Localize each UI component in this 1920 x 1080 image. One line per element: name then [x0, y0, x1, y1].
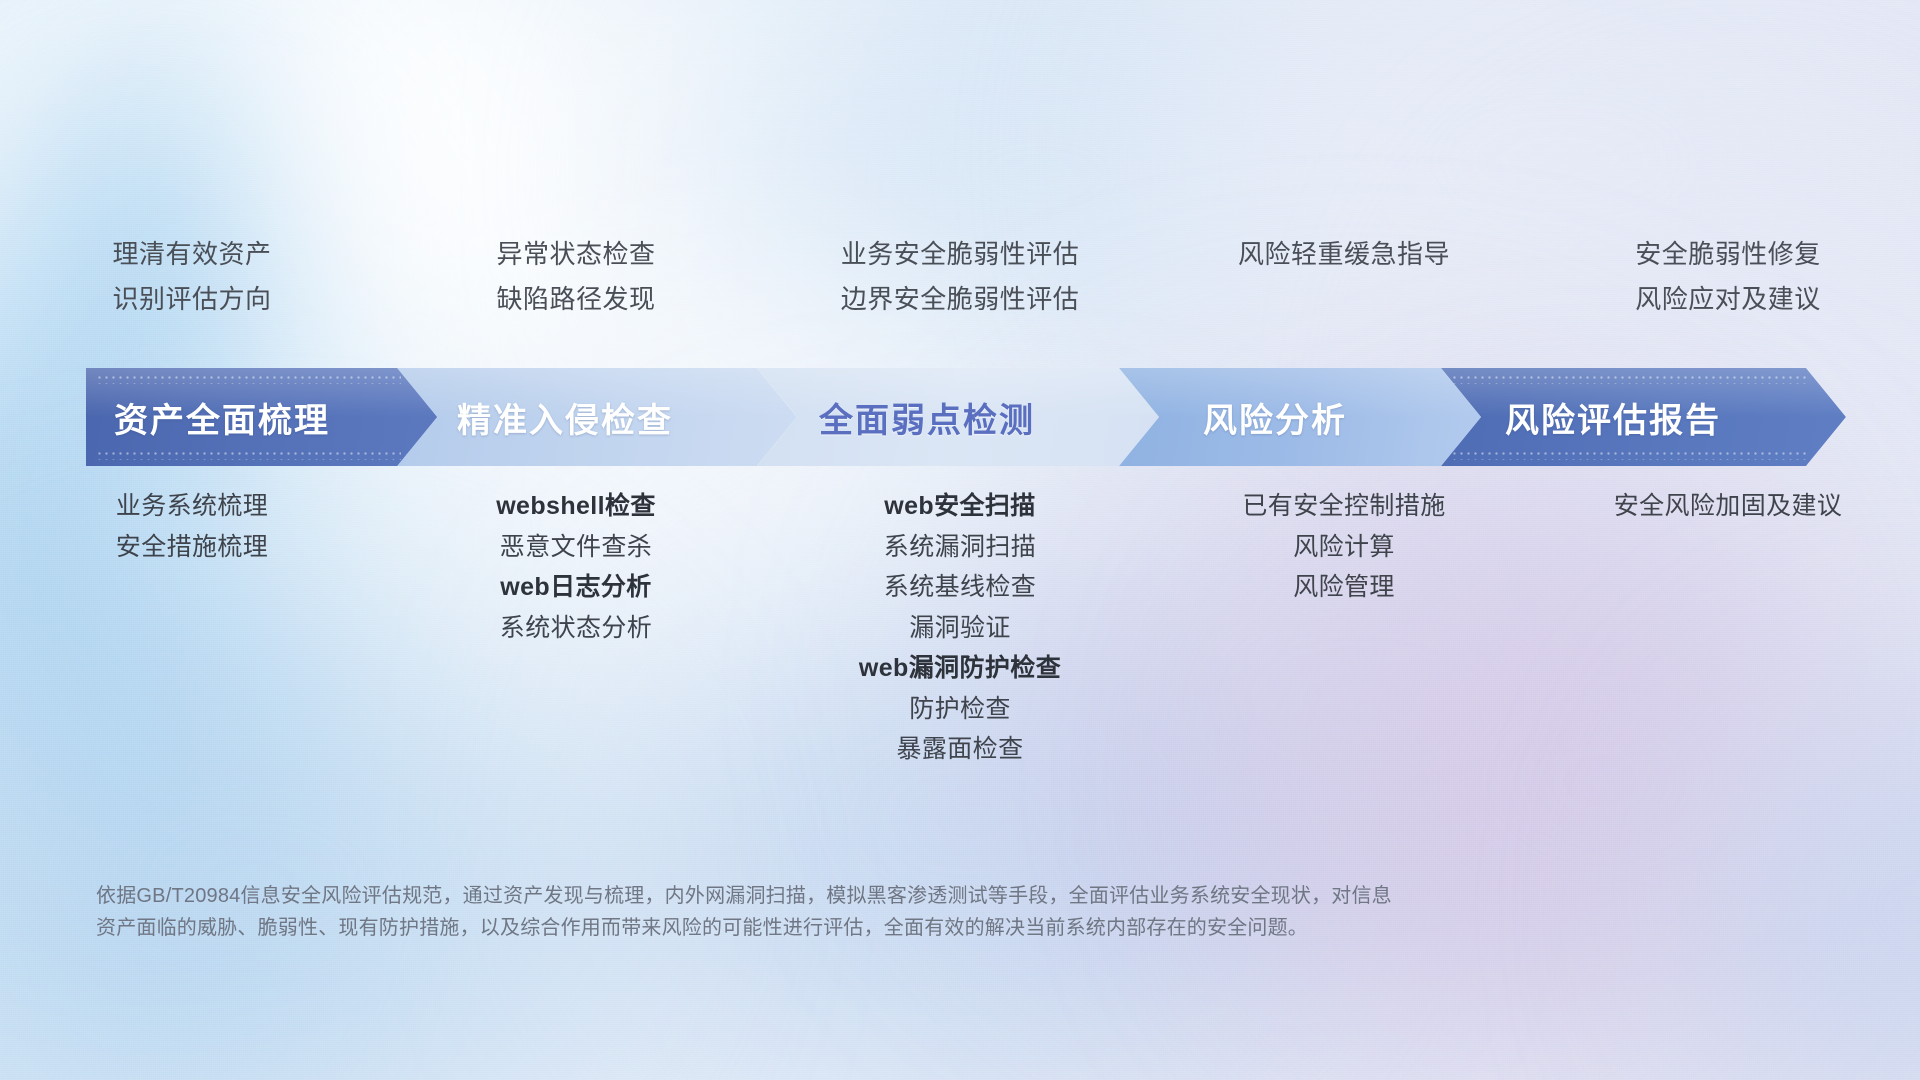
- top-descriptor-item: 风险应对及建议: [1635, 277, 1821, 322]
- detail-item: 系统状态分析: [500, 608, 652, 649]
- detail-list-weakness-detection: web安全扫描 系统漏洞扫描 系统基线检查 漏洞验证 web漏洞防护检查 防护检…: [768, 486, 1152, 746]
- detail-item: 漏洞验证: [909, 608, 1011, 649]
- detail-list-risk-analysis: 已有安全控制措施 风险计算 风险管理: [1152, 486, 1536, 746]
- detail-list-intrusion-check: webshell检查 恶意文件查杀 web日志分析 系统状态分析: [384, 486, 768, 746]
- stage-label: 精准入侵检查: [457, 393, 673, 442]
- diagram-root: 理清有效资产 识别评估方向 异常状态检查 缺陷路径发现 业务安全脆弱性评估 边界…: [0, 0, 1920, 1080]
- detail-list-asset-inventory: 业务系统梳理 安全措施梳理: [0, 486, 384, 746]
- footer-line-1: 依据GB/T20984信息安全风险评估规范，通过资产发现与梳理，内外网漏洞扫描，…: [96, 880, 1656, 912]
- chevron-dot-texture-top: [96, 374, 401, 384]
- detail-item: web日志分析: [500, 567, 651, 608]
- detail-item: 系统基线检查: [884, 567, 1036, 608]
- detail-item: web漏洞防护检查: [859, 648, 1061, 689]
- detail-item: 安全风险加固及建议: [1614, 486, 1843, 527]
- detail-item: 已有安全控制措施: [1242, 486, 1445, 527]
- detail-item: 风险管理: [1293, 567, 1395, 608]
- footer-note: 依据GB/T20984信息安全风险评估规范，通过资产发现与梳理，内外网漏洞扫描，…: [96, 880, 1656, 945]
- detail-list-risk-report: 安全风险加固及建议: [1536, 486, 1920, 746]
- detail-item: 业务系统梳理: [116, 486, 268, 527]
- detail-item: 恶意文件查杀: [500, 527, 652, 568]
- stage-chevron-risk-report[interactable]: 风险评估报告: [1441, 368, 1846, 466]
- top-descriptors-weakness-detection: 业务安全脆弱性评估 边界安全脆弱性评估: [768, 232, 1152, 342]
- footer-line-2: 资产面临的威胁、脆弱性、现有防护措施，以及综合作用而带来风险的可能性进行评估，全…: [96, 912, 1656, 944]
- top-descriptor-item: 风险轻重缓急指导: [1238, 232, 1450, 277]
- top-descriptor-item: 识别评估方向: [112, 277, 271, 322]
- top-descriptor-row: 理清有效资产 识别评估方向 异常状态检查 缺陷路径发现 业务安全脆弱性评估 边界…: [0, 232, 1920, 342]
- detail-item: 风险计算: [1293, 527, 1395, 568]
- detail-item: 暴露面检查: [896, 729, 1023, 770]
- stage-chevron-risk-analysis[interactable]: 风险分析: [1119, 368, 1481, 466]
- top-descriptors-risk-analysis: 风险轻重缓急指导: [1152, 232, 1536, 342]
- detail-item: web安全扫描: [884, 486, 1035, 527]
- stage-chevron-intrusion-check[interactable]: 精准入侵检查: [397, 368, 797, 466]
- stage-label: 风险分析: [1203, 393, 1347, 442]
- detail-item: 防护检查: [909, 689, 1011, 730]
- top-descriptor-item: 异常状态检查: [496, 232, 655, 277]
- chevron-dot-texture-bottom: [96, 450, 401, 460]
- top-descriptor-item: 业务安全脆弱性评估: [841, 232, 1080, 277]
- top-descriptor-item: 缺陷路径发现: [496, 277, 655, 322]
- top-descriptor-item: 边界安全脆弱性评估: [841, 277, 1080, 322]
- process-chevron-banner: 资产全面梳理 精准入侵检查 全面弱点检测 风险分析 风险评估报告: [86, 368, 1846, 466]
- chevron-dot-texture-top: [1451, 374, 1806, 384]
- stage-label: 资产全面梳理: [114, 393, 330, 442]
- stage-chevron-weakness-detection[interactable]: 全面弱点检测: [757, 368, 1159, 466]
- top-descriptors-risk-report: 安全脆弱性修复 风险应对及建议: [1536, 232, 1920, 342]
- stage-chevron-asset-inventory[interactable]: 资产全面梳理: [86, 368, 441, 466]
- detail-item: 安全措施梳理: [116, 527, 268, 568]
- top-descriptor-item: 理清有效资产: [112, 232, 271, 277]
- stage-label: 全面弱点检测: [819, 393, 1035, 442]
- detail-item: 系统漏洞扫描: [884, 527, 1036, 568]
- detail-item: webshell检查: [496, 486, 656, 527]
- stage-label: 风险评估报告: [1505, 393, 1721, 442]
- bottom-detail-row: 业务系统梳理 安全措施梳理 webshell检查 恶意文件查杀 web日志分析 …: [0, 486, 1920, 746]
- top-descriptors-intrusion-check: 异常状态检查 缺陷路径发现: [384, 232, 768, 342]
- chevron-dot-texture-bottom: [1451, 450, 1806, 460]
- top-descriptors-asset-inventory: 理清有效资产 识别评估方向: [0, 232, 384, 342]
- top-descriptor-item: 安全脆弱性修复: [1635, 232, 1821, 277]
